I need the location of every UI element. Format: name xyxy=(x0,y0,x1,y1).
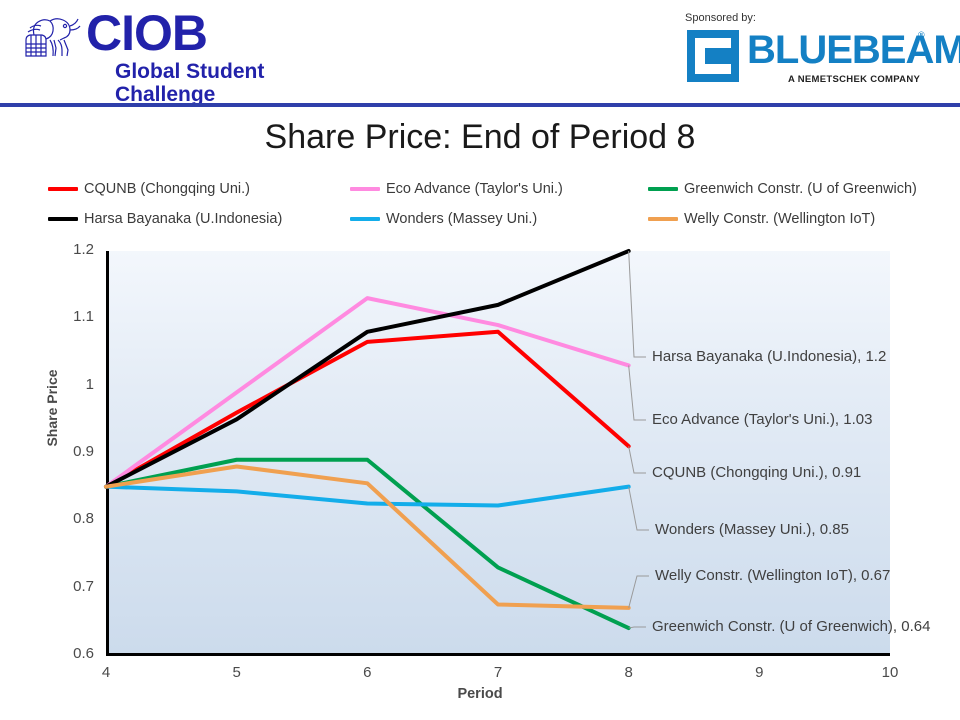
legend-swatch-icon xyxy=(648,187,678,191)
sponsor-block: Sponsored by: BLUEBEAM ® A NEMETSCHEK CO… xyxy=(675,8,940,96)
legend-swatch-icon xyxy=(48,187,78,191)
legend-item[interactable]: Eco Advance (Taylor's Uni.) xyxy=(350,176,563,202)
legend-swatch-icon xyxy=(350,187,380,191)
x-axis-tick-label: 6 xyxy=(347,664,387,681)
series-end-annotation: CQUNB (Chongqing Uni.), 0.91 xyxy=(652,464,861,481)
bluebeam-mark-inner xyxy=(705,48,731,64)
bluebeam-registered-icon: ® xyxy=(918,30,925,40)
x-axis-tick-label: 10 xyxy=(870,664,910,681)
x-axis-tick-label: 5 xyxy=(217,664,257,681)
x-axis-tick-label: 8 xyxy=(609,664,649,681)
legend-item[interactable]: Greenwich Constr. (U of Greenwich) xyxy=(648,176,917,202)
legend-item[interactable]: Harsa Bayanaka (U.Indonesia) xyxy=(48,206,282,232)
legend-label: CQUNB (Chongqing Uni.) xyxy=(84,181,250,197)
ciob-subtitle-line1: Global Student xyxy=(115,60,264,83)
y-axis-tick-label: 1 xyxy=(38,376,94,393)
y-axis-tick-label: 0.9 xyxy=(38,443,94,460)
x-axis-tick-label: 9 xyxy=(739,664,779,681)
series-end-annotation: Harsa Bayanaka (U.Indonesia), 1.2 xyxy=(652,348,886,365)
legend-label: Welly Constr. (Wellington IoT) xyxy=(684,211,875,227)
sponsored-by-label: Sponsored by: xyxy=(685,12,756,24)
legend-swatch-icon xyxy=(648,217,678,221)
legend-label: Wonders (Massey Uni.) xyxy=(386,211,537,227)
legend-item[interactable]: CQUNB (Chongqing Uni.) xyxy=(48,176,250,202)
chart-title: Share Price: End of Period 8 xyxy=(0,118,960,157)
series-end-annotation: Greenwich Constr. (U of Greenwich), 0.64 xyxy=(652,618,930,635)
chart-legend: CQUNB (Chongqing Uni.)Eco Advance (Taylo… xyxy=(0,176,960,234)
legend-label: Eco Advance (Taylor's Uni.) xyxy=(386,181,563,197)
ciob-logo: CIOB Global Student Challenge xyxy=(20,8,290,96)
ciob-subtitle: Global Student Challenge xyxy=(115,60,264,106)
x-axis-tick-label: 4 xyxy=(86,664,126,681)
y-axis-tick-label: 0.6 xyxy=(38,645,94,662)
series-end-annotation: Welly Constr. (Wellington IoT), 0.67 xyxy=(655,567,890,584)
header-divider xyxy=(0,103,960,107)
bluebeam-tagline: A NEMETSCHEK COMPANY xyxy=(788,74,920,85)
legend-swatch-icon xyxy=(350,217,380,221)
y-axis-tick-label: 1.1 xyxy=(38,308,94,325)
y-axis-tick-label: 0.8 xyxy=(38,510,94,527)
legend-item[interactable]: Wonders (Massey Uni.) xyxy=(350,206,537,232)
ciob-wordmark: CIOB xyxy=(86,8,207,58)
series-end-annotation: Eco Advance (Taylor's Uni.), 1.03 xyxy=(652,411,872,428)
page-header: CIOB Global Student Challenge Sponsored … xyxy=(0,0,960,104)
x-axis-tick-label: 7 xyxy=(478,664,518,681)
y-axis-tick-label: 0.7 xyxy=(38,578,94,595)
ciob-crest-icon xyxy=(20,10,82,62)
bluebeam-mark-icon xyxy=(687,30,739,82)
plot-area xyxy=(106,251,890,656)
bluebeam-wordmark: BLUEBEAM xyxy=(747,28,960,72)
series-end-annotation: Wonders (Massey Uni.), 0.85 xyxy=(655,521,849,538)
legend-swatch-icon xyxy=(48,217,78,221)
legend-item[interactable]: Welly Constr. (Wellington IoT) xyxy=(648,206,875,232)
y-axis-tick-label: 1.2 xyxy=(38,241,94,258)
legend-label: Harsa Bayanaka (U.Indonesia) xyxy=(84,211,282,227)
legend-label: Greenwich Constr. (U of Greenwich) xyxy=(684,181,917,197)
x-axis-title: Period xyxy=(0,686,960,702)
